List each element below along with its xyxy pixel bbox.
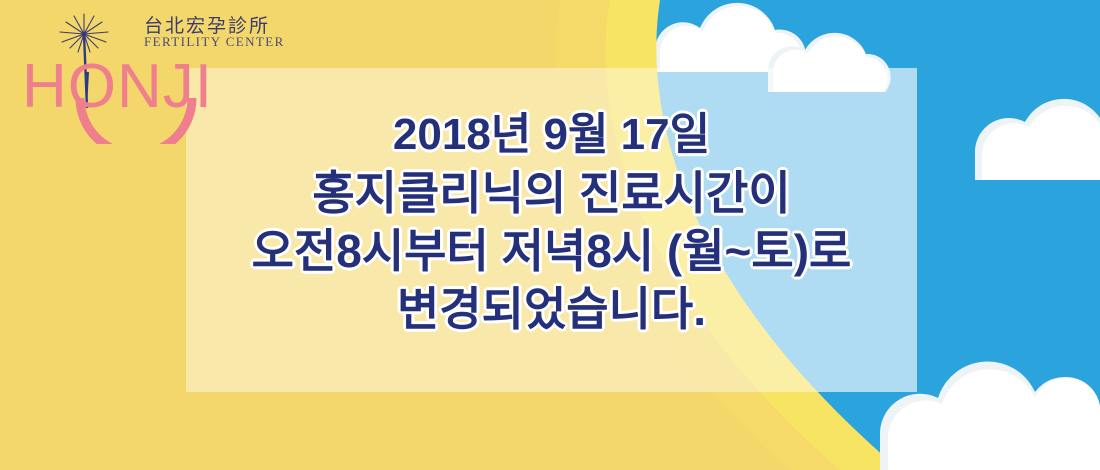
logo-wordmark-text: HONJI xyxy=(22,56,213,118)
logo-name-en: FERTILITY CENTER xyxy=(144,34,285,50)
promo-banner: 台北宏孕診所 FERTILITY CENTER HONJI 2018년 9월 1… xyxy=(0,0,1100,470)
announcement-line-2: 홍지클리닉의 진료시간이 xyxy=(186,164,917,222)
logo-text-block: 台北宏孕診所 FERTILITY CENTER xyxy=(68,10,254,58)
announcement-line-4: 변경되었습니다. xyxy=(186,280,917,338)
announcement-line-3: 오전8시부터 저녁8시 (월~토)로 xyxy=(186,222,917,280)
announcement-line-1: 2018년 9월 17일 xyxy=(186,106,917,164)
announcement-text: 2018년 9월 17일 홍지클리닉의 진료시간이 오전8시부터 저녁8시 (월… xyxy=(186,106,917,338)
